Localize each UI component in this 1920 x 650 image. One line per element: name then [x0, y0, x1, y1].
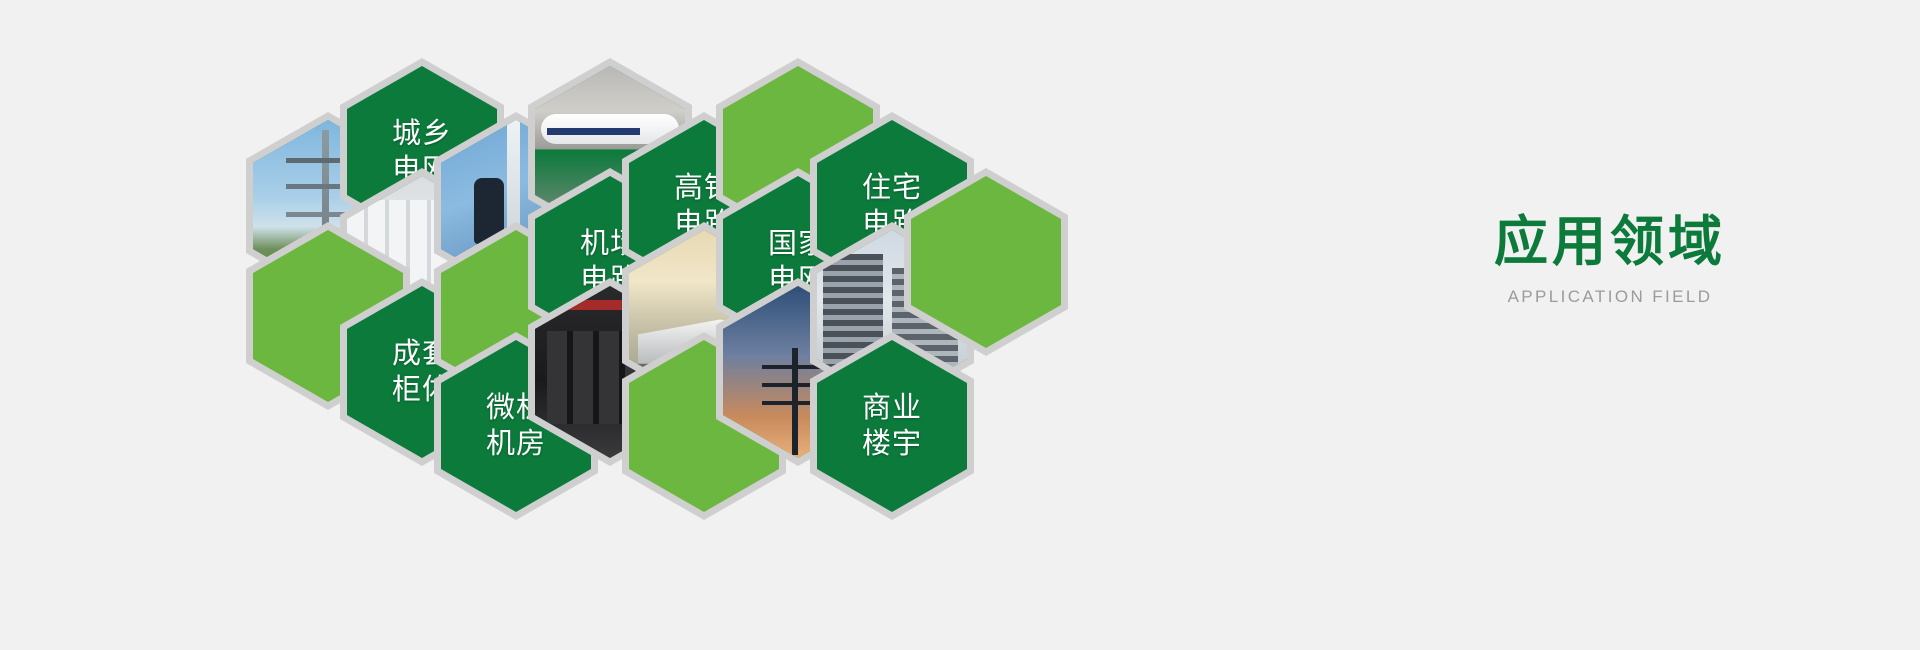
honeycomb-diagram: 城乡 电网成套 柜体微机 机房机场 电路高铁 电路国家 电网住宅 电路商业 楼宇: [0, 0, 1340, 650]
hex-inner-light-5: [911, 176, 1061, 348]
heading-block: 应用领域 APPLICATION FIELD: [1400, 212, 1820, 307]
hex-label-commercial: 商业 楼宇: [862, 390, 922, 461]
hex-inner-commercial: 商业 楼宇: [817, 340, 967, 512]
page-title: 应用领域: [1400, 212, 1820, 271]
page-subtitle: APPLICATION FIELD: [1400, 287, 1820, 307]
application-field-banner: 城乡 电网成套 柜体微机 机房机场 电路高铁 电路国家 电网住宅 电路商业 楼宇…: [0, 0, 1920, 650]
